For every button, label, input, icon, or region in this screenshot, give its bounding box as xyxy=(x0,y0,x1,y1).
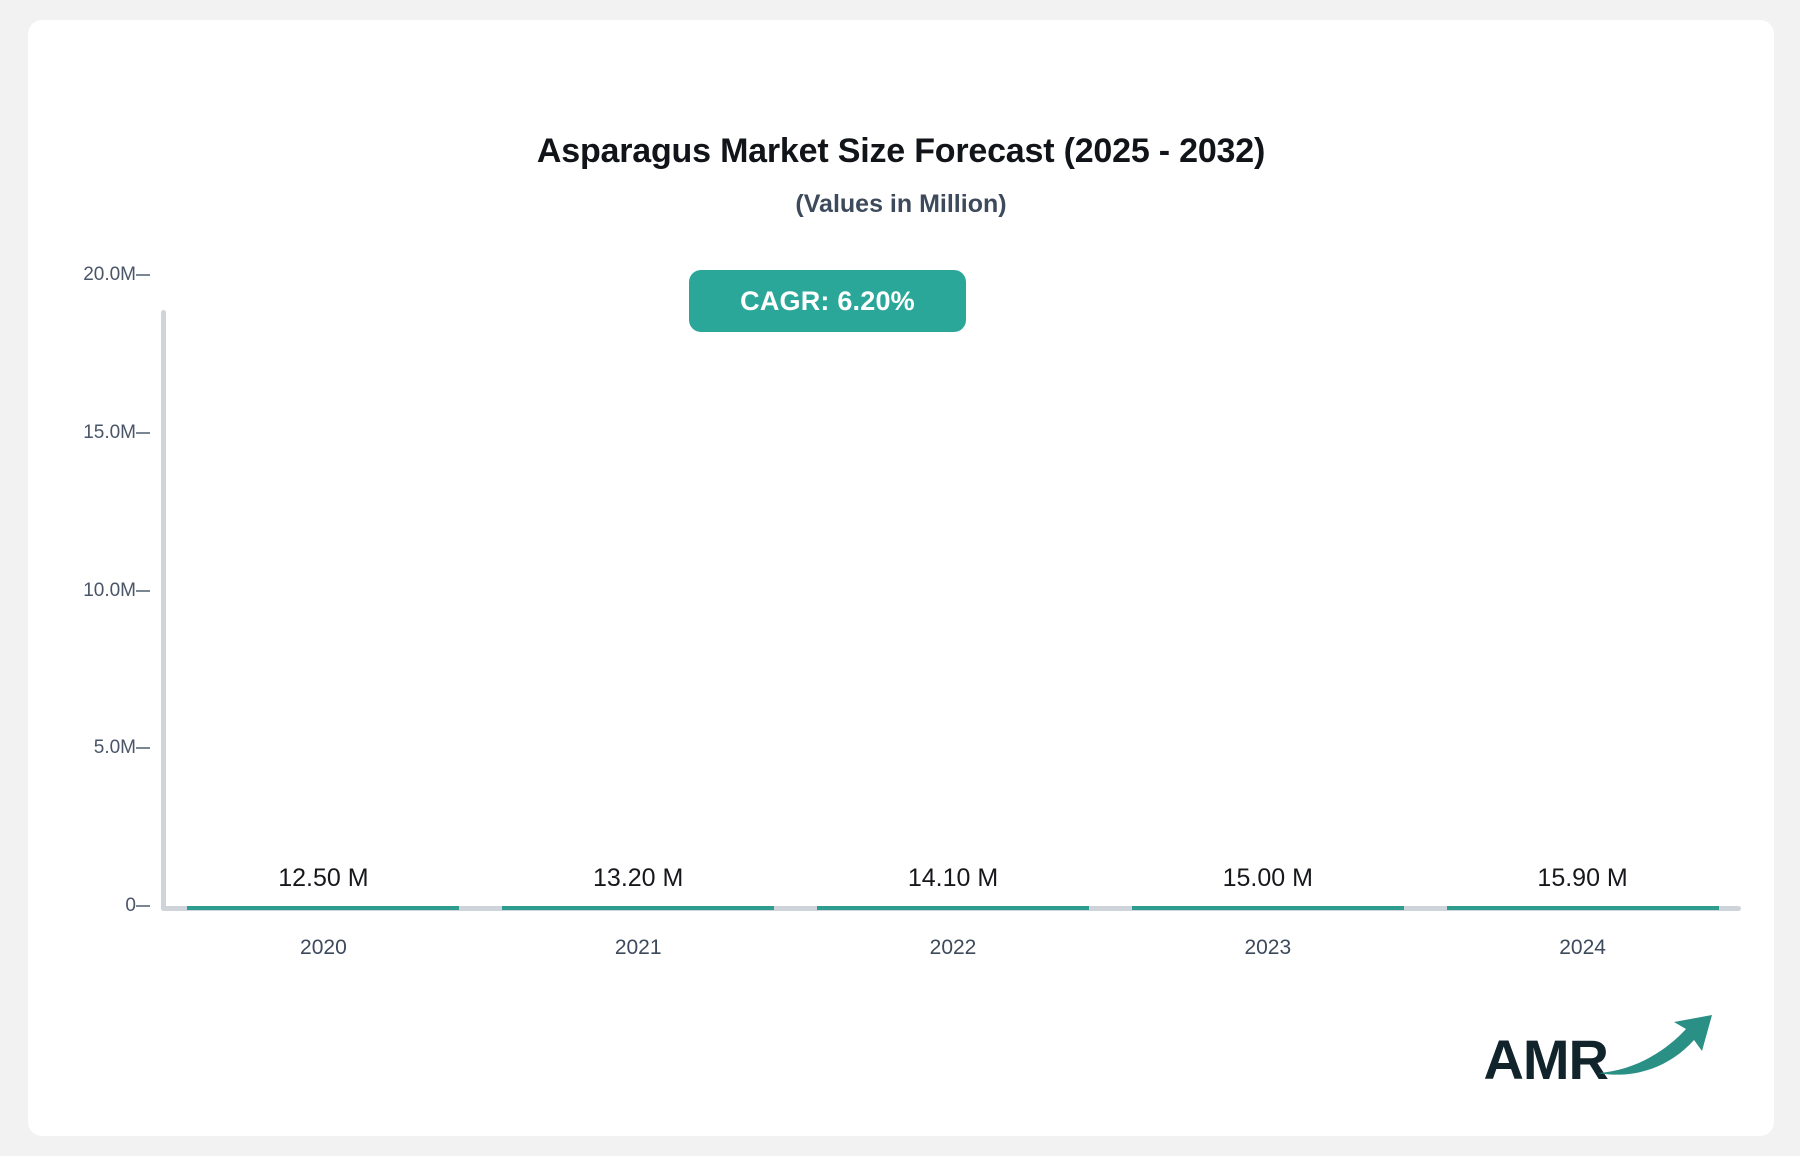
y-axis-tick-label: 15.0M xyxy=(28,422,136,444)
bar-top-edge xyxy=(187,906,459,910)
y-axis-tick-mark xyxy=(136,905,150,907)
chart-card: Asparagus Market Size Forecast (2025 - 2… xyxy=(28,20,1774,1136)
bar-value-label: 15.90 M xyxy=(1433,864,1733,893)
bar-value-label: 13.20 M xyxy=(488,864,788,893)
bar-top-edge xyxy=(502,906,774,910)
bar-value-label: 15.00 M xyxy=(1118,864,1418,893)
y-axis-tick-label: 0 xyxy=(28,895,136,917)
bar-chart-plot: 05.0M10.0M15.0M20.0M 12.50 M13.20 M14.10… xyxy=(28,20,1774,1136)
bar-value-label: 12.50 M xyxy=(173,864,473,893)
x-axis-tick-label: 2023 xyxy=(1118,936,1418,960)
y-axis-tick-label: 10.0M xyxy=(28,580,136,602)
y-axis-tick-mark xyxy=(136,274,150,276)
amr-logo-text: AMR xyxy=(1483,1032,1608,1088)
bar-top-edge xyxy=(817,906,1089,910)
y-axis-tick-mark xyxy=(136,590,150,592)
y-axis-tick-mark xyxy=(136,432,150,434)
y-axis-tick-label: 20.0M xyxy=(28,264,136,286)
x-axis-tick-label: 2020 xyxy=(173,936,473,960)
x-axis-tick-label: 2024 xyxy=(1433,936,1733,960)
bar-value-label: 14.10 M xyxy=(803,864,1103,893)
x-axis-tick-label: 2022 xyxy=(803,936,1103,960)
y-axis-line xyxy=(161,310,166,910)
y-axis-tick-mark xyxy=(136,747,150,749)
growth-arrow-icon xyxy=(1596,1013,1716,1084)
amr-logo: AMR xyxy=(1483,1013,1716,1088)
x-axis-tick-label: 2021 xyxy=(488,936,788,960)
y-axis-tick-label: 5.0M xyxy=(28,737,136,759)
bar-top-edge xyxy=(1447,906,1719,910)
bar-top-edge xyxy=(1132,906,1404,910)
